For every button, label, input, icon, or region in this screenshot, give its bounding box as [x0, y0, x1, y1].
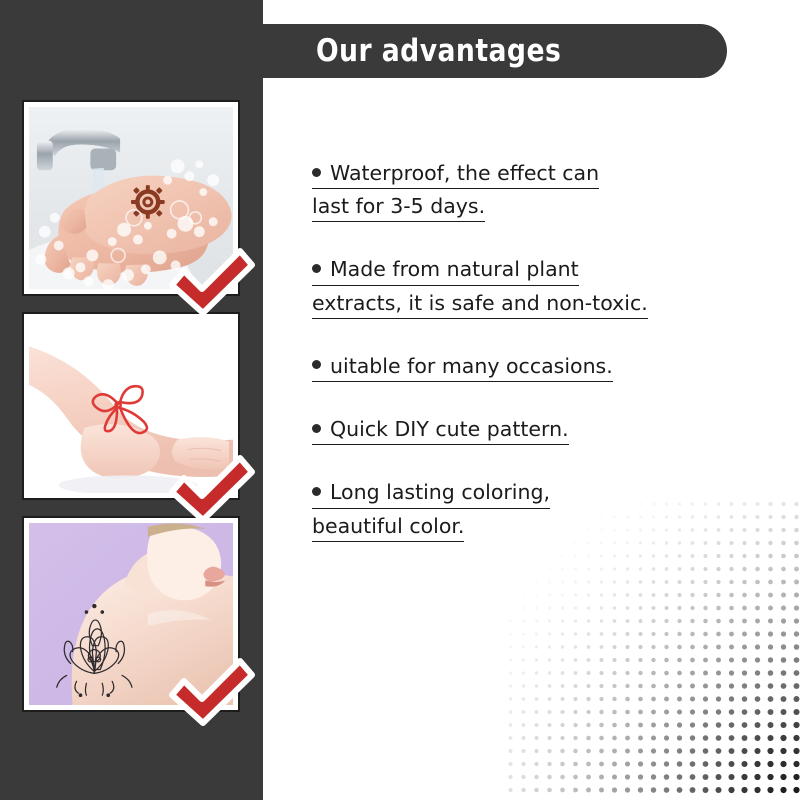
- check-mark-icon-3: [166, 655, 258, 731]
- advantage-line: Quick DIY cute pattern.: [312, 416, 569, 445]
- advantage-text: Quick DIY cute pattern.: [330, 417, 569, 441]
- bullet-dot-icon: [312, 264, 321, 273]
- advantage-item-2: Made from natural plant extracts, it is …: [312, 256, 774, 318]
- bullet-dot-icon: [312, 168, 321, 177]
- advantage-line: Waterproof, the effect can: [312, 160, 599, 189]
- advantage-line: Long lasting coloring,: [312, 479, 550, 508]
- advantage-text: Made from natural plant: [330, 257, 579, 281]
- bullet-dot-icon: [312, 487, 321, 496]
- bullet-dot-icon: [312, 360, 321, 369]
- advantage-item-1: Waterproof, the effect can last for 3-5 …: [312, 160, 774, 222]
- advantage-text: extracts, it is safe and non-toxic.: [312, 291, 648, 315]
- check-mark-icon-1: [166, 245, 258, 321]
- advantage-line: extracts, it is safe and non-toxic.: [312, 290, 648, 319]
- advantage-item-5: Long lasting coloring, beautiful color.: [312, 479, 774, 541]
- page-title: Our advantages: [316, 33, 561, 69]
- advantage-item-3: uitable for many occasions.: [312, 353, 774, 382]
- advantage-line: last for 3-5 days.: [312, 193, 485, 222]
- advantage-item-4: Quick DIY cute pattern.: [312, 416, 774, 445]
- advantage-text: Waterproof, the effect can: [330, 161, 599, 185]
- advantages-infographic: Our advantages: [0, 0, 800, 800]
- panel-edge-divider: [263, 0, 265, 800]
- advantage-text: last for 3-5 days.: [312, 194, 485, 218]
- advantages-list: Waterproof, the effect can last for 3-5 …: [312, 160, 774, 576]
- check-mark-icon-2: [166, 452, 258, 528]
- advantage-text: uitable for many occasions.: [330, 354, 613, 378]
- advantage-text: beautiful color.: [312, 514, 464, 538]
- advantage-line: Made from natural plant: [312, 256, 579, 285]
- advantage-line: uitable for many occasions.: [312, 353, 613, 382]
- advantage-text: Long lasting coloring,: [330, 480, 550, 504]
- advantage-line: beautiful color.: [312, 513, 464, 542]
- header-banner: Our advantages: [0, 24, 727, 78]
- bullet-dot-icon: [312, 424, 321, 433]
